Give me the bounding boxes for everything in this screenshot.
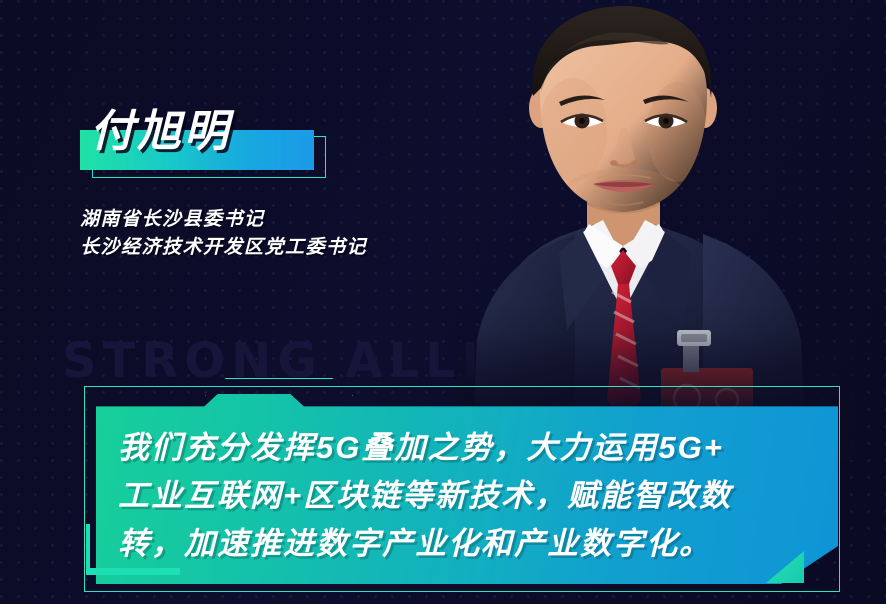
speaker-title-line-1: 湖南省长沙县委书记 — [80, 206, 367, 234]
speaker-name: 付旭明 — [90, 108, 231, 156]
quote-line-3: 转，加速推进数字产业化和产业数字化。 — [118, 520, 828, 568]
quote-line-2: 工业互联网+区块链等新技术，赋能智改数 — [118, 472, 828, 520]
speaker-title-line-2: 长沙经济技术开发区党工委书记 — [80, 234, 367, 262]
quote-line-1: 我们充分发挥5G叠加之势，大力运用5G+ — [118, 424, 828, 472]
corner-accent-horizontal — [86, 568, 180, 575]
bottom-left-corner-accent — [70, 524, 180, 586]
speaker-titles: 湖南省长沙县委书记 长沙经济技术开发区党工委书记 — [80, 206, 367, 262]
speaker-portrait — [455, 0, 855, 430]
quote-text: 我们充分发挥5G叠加之势，大力运用5G+ 工业互联网+区块链等新技术，赋能智改数… — [118, 424, 828, 568]
speaker-name-block: 付旭明 — [80, 108, 380, 198]
corner-accent-vertical — [86, 524, 90, 572]
poster-canvas: STRONG ALLIANCE — [0, 0, 886, 604]
quote-notch-outline — [205, 378, 353, 396]
